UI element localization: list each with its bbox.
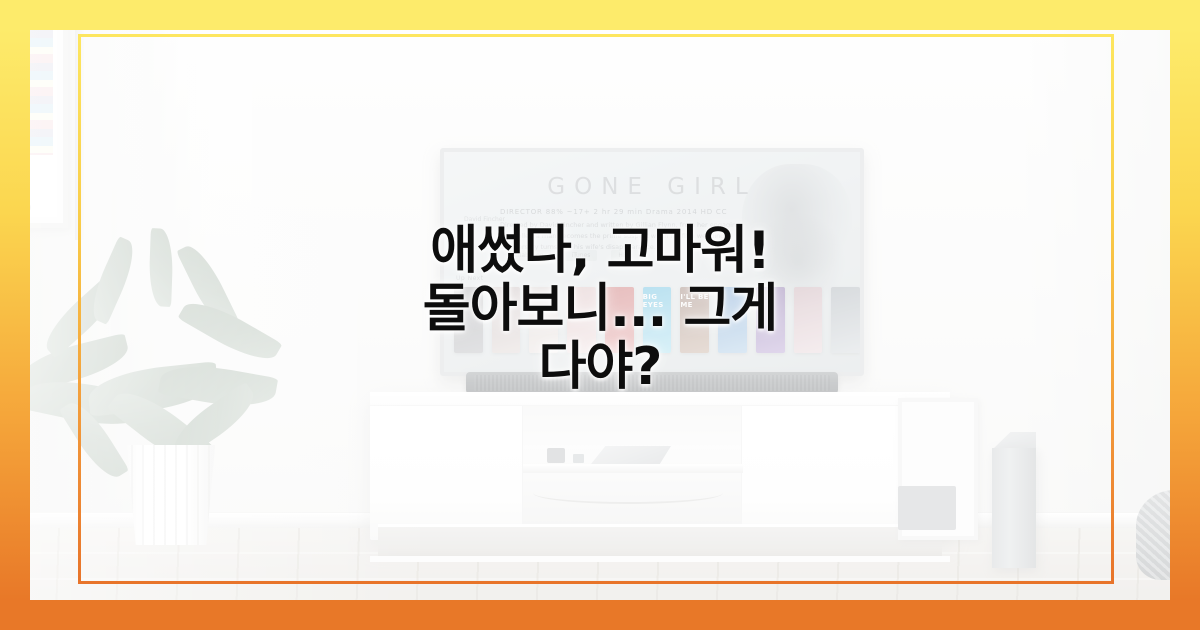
living-room-photo: GONE GIRL David Fincher DIRECTOR 88% ~17… (0, 0, 1200, 630)
shelf-console-box (591, 446, 671, 464)
wall-shadow-right (1020, 0, 1200, 528)
tv-movie-title: GONE GIRL (444, 174, 860, 200)
tv-poster-thumb (529, 287, 558, 353)
tv-director-label: David Fincher (464, 216, 505, 223)
tv-availability-chips: Available on iTunes HBO (500, 250, 639, 261)
pouf-knit-texture (1136, 490, 1200, 580)
striped-wall-art-frame (0, 0, 68, 228)
art-stripes (0, 5, 53, 155)
tv-poster-thumb (492, 287, 521, 353)
pot-ridges (122, 445, 220, 545)
thumbnail-canvas: GONE GIRL David Fincher DIRECTOR 88% ~17… (0, 0, 1200, 630)
art-signature (0, 167, 15, 172)
tv-poster-thumb (756, 287, 785, 353)
tv-movie-description: Directed by David Fincher and written by… (500, 220, 750, 253)
tv-poster-thumb (718, 287, 747, 353)
soundbar (466, 372, 838, 394)
small-picture-frame (898, 398, 978, 540)
soundbar-grill (474, 375, 830, 391)
shelf-remote (573, 454, 584, 463)
knit-pouf (1136, 490, 1200, 580)
small-frame-art (898, 486, 956, 530)
television: GONE GIRL David Fincher DIRECTOR 88% ~17… (440, 148, 864, 376)
console-open-shelf (522, 406, 742, 524)
art-caption (0, 205, 31, 210)
potted-plant (10, 250, 310, 550)
tv-console (370, 392, 950, 540)
tv-poster-thumb (794, 287, 823, 353)
tv-poster-thumb: I'LL BE ME (680, 287, 709, 353)
shelf-device (547, 448, 565, 463)
floor-speaker (992, 448, 1036, 568)
plant-leaf (84, 236, 142, 325)
tv-chip: iTunes (565, 250, 598, 261)
tv-poster-thumb (454, 287, 483, 353)
shelf-cables (533, 482, 723, 504)
tv-poster-thumb: BIG EYES (643, 287, 672, 353)
tv-chip: Available on (500, 250, 551, 261)
plant-pot (122, 445, 220, 545)
tv-poster-thumb (605, 287, 634, 353)
tv-screen: GONE GIRL David Fincher DIRECTOR 88% ~17… (444, 152, 860, 372)
tv-movie-meta: DIRECTOR 88% ~17+ 2 hr 29 min Drama 2014… (500, 208, 727, 216)
tv-poster-thumb (567, 287, 596, 353)
tv-chip: HBO (611, 250, 638, 261)
console-top-surface (370, 392, 950, 406)
art-frame-edge (75, 0, 84, 240)
tv-row-label: Up Next (456, 275, 484, 282)
tv-poster-thumb (831, 287, 860, 353)
tv-poster-row: BIG EYESI'LL BE ME (454, 287, 860, 353)
console-base (370, 556, 950, 562)
console-plinth (378, 524, 942, 560)
shelf-divider (523, 464, 743, 473)
